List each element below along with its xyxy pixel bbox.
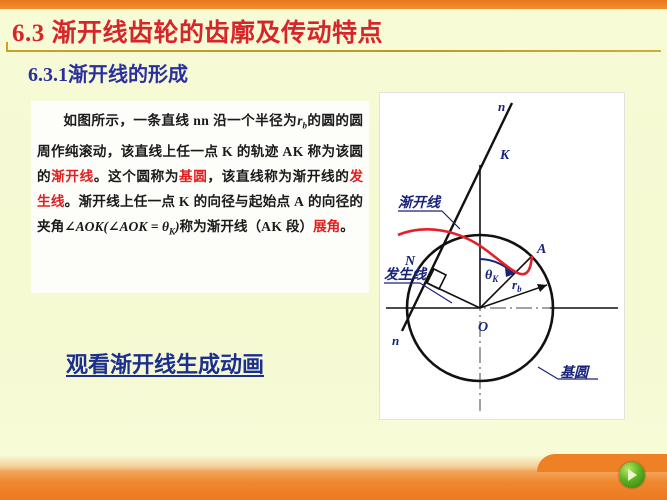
title-block: 6.3 渐开线齿轮的齿廓及传动特点 bbox=[0, 9, 667, 52]
keyword-involute: 渐开线 bbox=[51, 169, 94, 184]
footer-rounded-tab bbox=[537, 454, 667, 472]
involute-diagram-panel: 渐开线 发生线 基圆 n n K N A O θK rb bbox=[379, 92, 625, 420]
label-point-A: A bbox=[536, 242, 546, 257]
keyword-base-circle: 基圆 bbox=[179, 169, 207, 184]
top-orange-strip bbox=[0, 0, 667, 9]
body-seg-6: 。这个圆称为 bbox=[94, 169, 179, 184]
body-seg-1: 如图所示，一条直线 bbox=[63, 113, 193, 128]
label-base-circle: 基圆 bbox=[560, 364, 591, 381]
body-seg-A: A bbox=[294, 194, 304, 209]
keyword-spread-angle: 展角 bbox=[313, 219, 340, 234]
body-seg-13: 。 bbox=[340, 219, 354, 234]
watch-animation-link[interactable]: 观看渐开线生成动画 bbox=[66, 347, 264, 379]
body-seg-11: 称为渐开线（ bbox=[180, 219, 262, 234]
body-seg-K2: K bbox=[179, 194, 190, 209]
body-seg-12: 段） bbox=[283, 219, 314, 234]
next-slide-button[interactable] bbox=[619, 462, 645, 488]
label-involute: 渐开线 bbox=[398, 194, 442, 211]
label-point-N: N bbox=[404, 254, 416, 269]
label-radius-rb: rb bbox=[512, 277, 522, 294]
slide-footer bbox=[0, 455, 667, 500]
body-text-panel: 如图所示，一条直线 nn 沿一个半径为rb的圆的圆周作纯滚动，该直线上任一点 K… bbox=[31, 101, 369, 293]
play-triangle-icon bbox=[628, 469, 637, 481]
radius-rb-arrowhead bbox=[537, 284, 547, 292]
involute-diagram: 渐开线 发生线 基圆 n n K N A O θK rb bbox=[380, 93, 624, 419]
label-point-n-bottom: n bbox=[392, 333, 399, 348]
title-divider bbox=[6, 50, 661, 52]
body-seg-9: 的向径与起始点 bbox=[190, 194, 294, 209]
base-circle-leader-line bbox=[538, 367, 558, 379]
body-seg-AK1: AK bbox=[282, 144, 303, 159]
body-seg-K1: K bbox=[222, 144, 233, 159]
body-seg-AK2: AK bbox=[261, 219, 282, 234]
body-seg-nn: nn bbox=[193, 113, 209, 128]
slide-canvas: 6.3 渐开线齿轮的齿廓及传动特点 6.3.1渐开线的形成 如图所示，一条直线 … bbox=[0, 0, 667, 500]
label-theta: θK bbox=[485, 268, 499, 284]
body-seg-2: 沿一个半径为 bbox=[209, 113, 297, 128]
body-line-group: 如图所示，一条直线 nn 沿一个半径为rb的圆的圆周作纯滚动，该直线上任一点 K… bbox=[37, 108, 363, 244]
label-point-n-top: n bbox=[498, 99, 505, 114]
page-title: 6.3 渐开线齿轮的齿廓及传动特点 bbox=[12, 13, 383, 49]
footer-orange-bar bbox=[0, 472, 667, 500]
label-point-K: K bbox=[499, 148, 511, 163]
section-subtitle: 6.3.1渐开线的形成 bbox=[28, 58, 188, 87]
body-seg-8: 。渐开线上任一点 bbox=[65, 194, 179, 209]
label-point-O: O bbox=[478, 320, 488, 335]
body-seg-7: ，该直线称为渐开线的 bbox=[207, 169, 349, 184]
body-seg-4: 的轨迹 bbox=[233, 144, 282, 159]
body-formula: ∠AOK(∠AOK = θ bbox=[64, 219, 169, 234]
body-paragraph: 如图所示，一条直线 nn 沿一个半径为rb的圆的圆周作纯滚动，该直线上任一点 K… bbox=[31, 101, 369, 244]
